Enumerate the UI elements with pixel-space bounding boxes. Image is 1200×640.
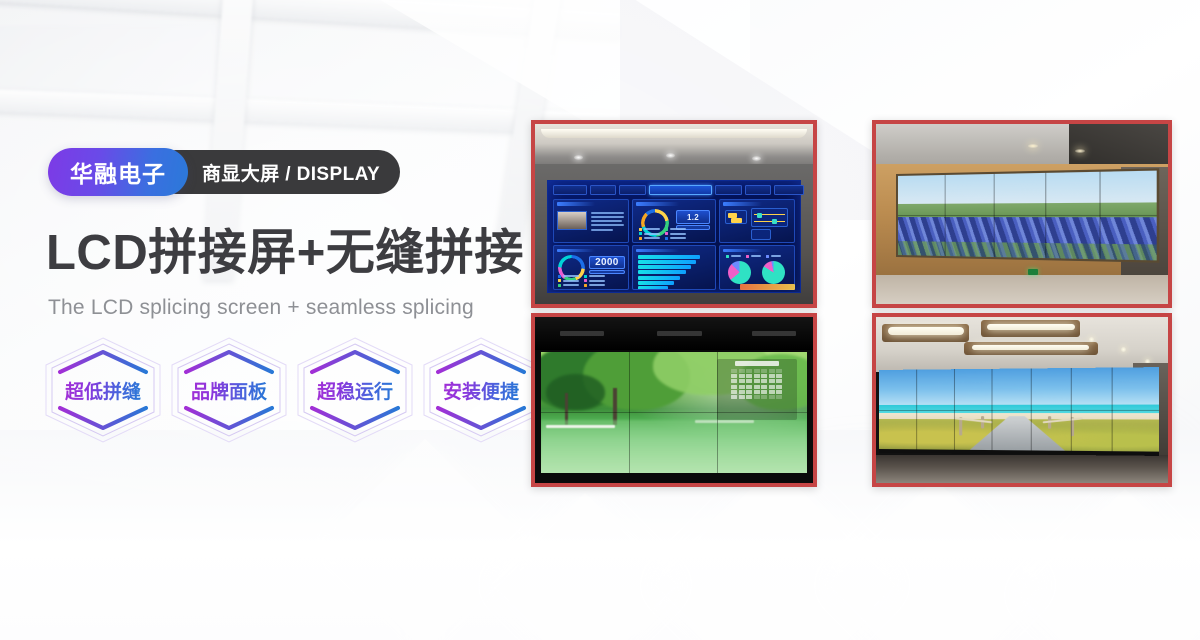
banner-copy-column: 华融电子 商显大屏 / DISPLAY LCD拼接屏+无缝拼接 The LCD … [46,0,526,640]
photo-willow-lake [531,313,817,487]
panel-pie-chart [719,245,795,290]
upper-bezel-row [535,317,813,350]
photo-beach-boardwalk [872,313,1172,487]
feature-badge-2: 品牌面板 [170,336,288,444]
video-wall-screen [879,367,1159,456]
kpi-value: 1.2 [676,210,711,224]
spot-light [666,153,675,158]
ceiling-light [1028,144,1038,148]
ceiling-light-strip [888,327,964,335]
brand-badge: 华融电子 [48,148,188,196]
feature-badge-label: 品牌面板 [191,377,267,404]
video-wall-screen [896,169,1159,263]
feature-badge-3: 超稳运行 [296,336,414,444]
screen-watermark [740,284,796,290]
bezel-label [752,331,796,336]
exit-sign-icon [1028,269,1038,275]
lake-water [541,420,808,473]
category-badge: 商显大屏 / DISPLAY [154,150,400,194]
panel-seam [879,409,1159,410]
feature-badge-label: 超稳运行 [317,377,393,404]
bezel-label [560,331,604,336]
spot-light [574,155,583,160]
ceiling-light-strip [972,345,1089,350]
floor [876,455,1168,483]
feature-badge-list: 超低拼缝 品牌面板 [44,336,540,444]
panel-seam [541,412,808,413]
ceiling-light [1075,149,1085,153]
kpi-value: 2000 [589,256,624,269]
panel-intro [553,199,629,244]
dashboard-row-top: 1.2 [553,199,796,244]
page-subtitle: The LCD splicing screen + seamless splic… [48,296,568,320]
panel-donut-kpi: 1.2 [632,199,717,244]
sky [879,367,1159,406]
page-title: LCD拼接屏+无缝拼接 [46,225,566,281]
brand-badge-row: 华融电子 商显大屏 / DISPLAY [48,148,400,196]
ceiling-cove-light [541,129,808,138]
photo-solar-farm [872,120,1172,308]
bezel-label [657,331,701,336]
feature-badge-label: 超低拼缝 [65,377,141,404]
panel-bar-chart [632,245,717,290]
kpi-label [589,270,624,275]
video-wall-screen [541,352,808,473]
photo-dashboard: 1.2 [531,120,817,308]
panel-donut-region: 2000 [553,245,629,290]
video-wall-screen: 1.2 [547,180,802,293]
panel-flow-diagram [719,199,795,244]
feature-badge-label: 安装便捷 [443,377,519,404]
grass-strip [898,241,1156,261]
dashboard-row-bottom: 2000 [553,245,796,290]
dashboard-menu-bar [553,184,796,197]
ceiling-light-strip [987,324,1075,331]
feature-badge-4: 安装便捷 [422,336,540,444]
feature-badge-1: 超低拼缝 [44,336,162,444]
calendar-overlay [717,359,797,420]
floor [876,275,1168,304]
